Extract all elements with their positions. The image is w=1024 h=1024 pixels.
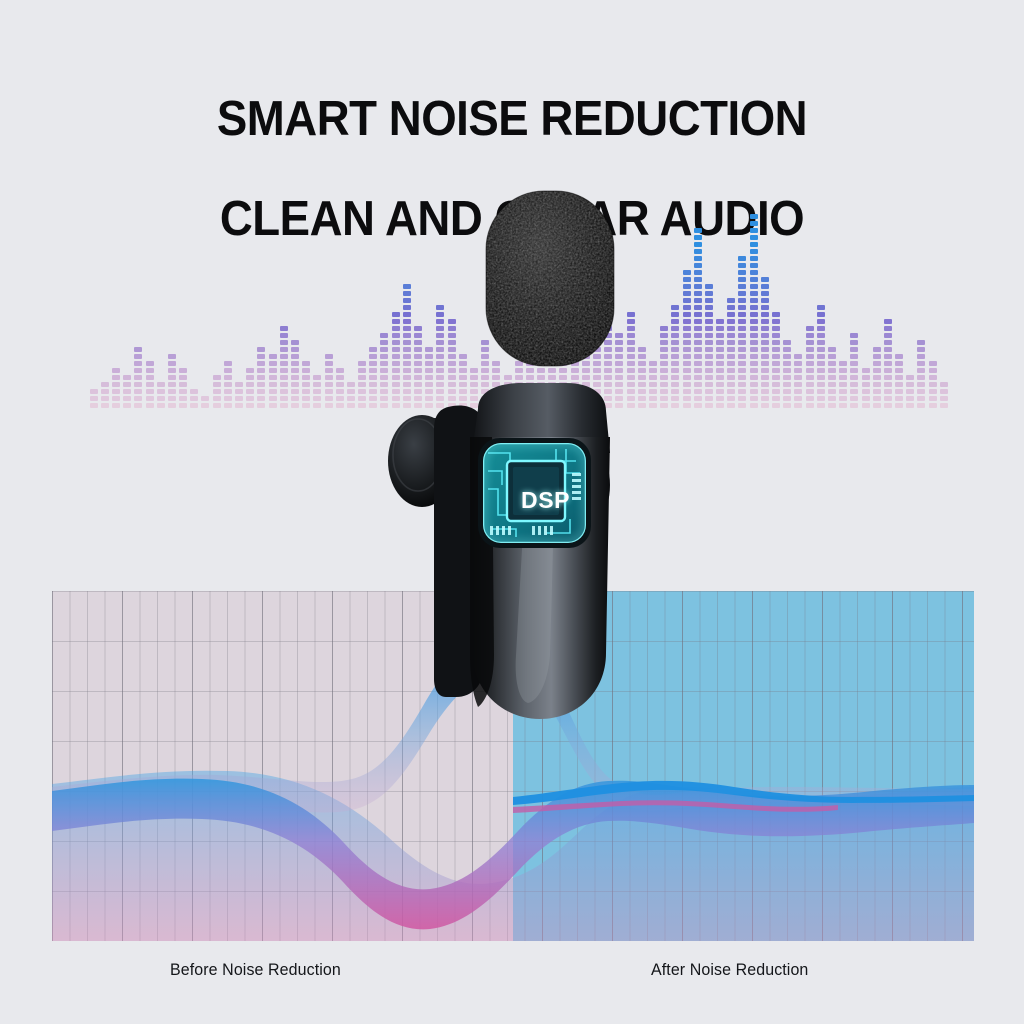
equalizer-bar bbox=[110, 178, 121, 408]
equalizer-bar bbox=[245, 178, 256, 408]
equalizer-bar bbox=[312, 178, 323, 408]
equalizer-bar bbox=[938, 178, 949, 408]
equalizer-bar bbox=[323, 178, 334, 408]
equalizer-bar bbox=[692, 178, 703, 408]
equalizer-bar bbox=[659, 178, 670, 408]
equalizer-bar bbox=[826, 178, 837, 408]
equalizer-bar bbox=[737, 178, 748, 408]
equalizer-bar bbox=[267, 178, 278, 408]
equalizer-bar bbox=[99, 178, 110, 408]
equalizer-bar bbox=[759, 178, 770, 408]
equalizer-bar bbox=[927, 178, 938, 408]
equalizer-bar bbox=[748, 178, 759, 408]
equalizer-bar bbox=[256, 178, 267, 408]
equalizer-bar bbox=[278, 178, 289, 408]
equalizer-bar bbox=[703, 178, 714, 408]
equalizer-bar bbox=[726, 178, 737, 408]
equalizer-bar bbox=[211, 178, 222, 408]
headline-line-1: SMART NOISE REDUCTION bbox=[36, 94, 988, 144]
equalizer-bar bbox=[345, 178, 356, 408]
equalizer-bar bbox=[916, 178, 927, 408]
equalizer-bar bbox=[222, 178, 233, 408]
equalizer-bar bbox=[301, 178, 312, 408]
equalizer-bar bbox=[88, 178, 99, 408]
equalizer-bar bbox=[334, 178, 345, 408]
equalizer-bar bbox=[133, 178, 144, 408]
equalizer-bar bbox=[894, 178, 905, 408]
equalizer-bar bbox=[715, 178, 726, 408]
equalizer-bar bbox=[681, 178, 692, 408]
equalizer-bar bbox=[905, 178, 916, 408]
equalizer-bar bbox=[233, 178, 244, 408]
caption-before: Before Noise Reduction bbox=[170, 960, 341, 980]
equalizer-bar bbox=[200, 178, 211, 408]
equalizer-bar bbox=[155, 178, 166, 408]
equalizer-bar bbox=[289, 178, 300, 408]
mic-windscreen-texture bbox=[486, 191, 614, 366]
lavalier-microphone-product-image bbox=[360, 185, 660, 730]
equalizer-bar bbox=[189, 178, 200, 408]
equalizer-bar bbox=[815, 178, 826, 408]
equalizer-bar bbox=[670, 178, 681, 408]
equalizer-bar bbox=[860, 178, 871, 408]
equalizer-bar bbox=[871, 178, 882, 408]
equalizer-bar bbox=[793, 178, 804, 408]
equalizer-bar bbox=[770, 178, 781, 408]
equalizer-bar bbox=[122, 178, 133, 408]
caption-after: After Noise Reduction bbox=[651, 960, 808, 980]
equalizer-bar bbox=[166, 178, 177, 408]
equalizer-bar bbox=[804, 178, 815, 408]
equalizer-bar bbox=[178, 178, 189, 408]
equalizer-bar bbox=[144, 178, 155, 408]
equalizer-bar bbox=[849, 178, 860, 408]
dsp-chip-label: DSP bbox=[521, 487, 570, 514]
equalizer-bar bbox=[782, 178, 793, 408]
equalizer-bar bbox=[838, 178, 849, 408]
equalizer-bar bbox=[882, 178, 893, 408]
